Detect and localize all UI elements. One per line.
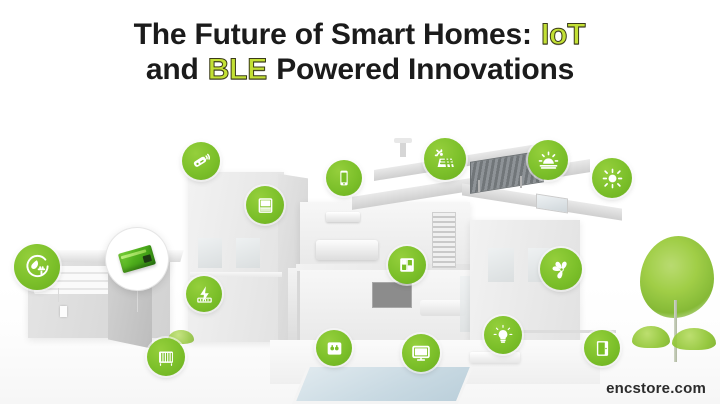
ble-module-badge[interactable] xyxy=(106,228,168,290)
power-socket-glyph xyxy=(324,338,345,359)
roof-skylight xyxy=(536,193,568,213)
house-left-window-a xyxy=(198,238,222,268)
light-switch-icon[interactable] xyxy=(388,246,426,284)
chimney-vent xyxy=(400,143,406,157)
light-switch-glyph xyxy=(396,254,418,276)
television-icon[interactable] xyxy=(402,334,440,372)
radiator-icon[interactable] xyxy=(147,338,185,376)
energy-meter-glyph xyxy=(194,284,215,305)
wall-tv-panel xyxy=(372,282,412,308)
swimming-pool xyxy=(292,364,474,404)
window-blind-icon[interactable] xyxy=(246,186,284,224)
page-title: The Future of Smart Homes: IoT and BLE P… xyxy=(0,18,720,88)
door-icon[interactable] xyxy=(584,330,620,366)
power-socket-icon[interactable] xyxy=(316,330,352,366)
ble-module-board xyxy=(118,245,156,274)
light-bulb-glyph xyxy=(492,324,514,346)
smartphone-glyph xyxy=(334,168,354,188)
television-glyph xyxy=(410,342,432,364)
sunrise-icon[interactable] xyxy=(528,140,568,180)
leader-ble-module xyxy=(137,290,138,312)
roof-weather-station xyxy=(394,138,412,143)
towel-radiator xyxy=(432,212,456,268)
bed-furniture xyxy=(316,240,378,260)
remote-control-glyph xyxy=(190,150,212,172)
energy-plug-icon[interactable] xyxy=(14,244,60,290)
sunrise-glyph xyxy=(537,149,560,172)
fan-icon[interactable] xyxy=(540,248,582,290)
solar-mount-b xyxy=(520,176,522,188)
window-blind-glyph xyxy=(255,195,276,216)
site-watermark: encstore.com xyxy=(606,380,706,397)
infographic-canvas: The Future of Smart Homes: IoT and BLE P… xyxy=(0,0,720,404)
title-line-2-suffix: Powered Innovations xyxy=(268,53,574,86)
door-glyph xyxy=(592,338,613,359)
right-wing-window xyxy=(488,248,514,282)
solar-panel-glyph xyxy=(433,147,457,171)
garage-wall-switch xyxy=(60,306,67,317)
tree-trunk xyxy=(674,300,677,362)
energy-plug-glyph xyxy=(24,254,51,281)
light-bulb-icon[interactable] xyxy=(484,316,522,354)
title-highlight-iot: IoT xyxy=(540,18,586,51)
energy-meter-icon[interactable] xyxy=(186,276,222,312)
title-highlight-ble: BLE xyxy=(207,53,268,86)
radiator-glyph xyxy=(155,346,177,368)
title-line-1-text: The Future of Smart Homes: xyxy=(134,18,540,51)
sun-icon[interactable] xyxy=(592,158,632,198)
smartphone-icon[interactable] xyxy=(326,160,362,196)
interior-partition xyxy=(288,268,297,342)
title-line-2-prefix: and xyxy=(146,53,207,86)
solar-mount-a xyxy=(478,180,480,192)
house-left-window-b xyxy=(236,238,260,268)
wall-ac-unit xyxy=(326,212,360,222)
title-line-2: and BLE Powered Innovations xyxy=(0,53,720,88)
solar-panel-icon[interactable] xyxy=(424,138,466,180)
sun-glyph xyxy=(601,167,624,190)
title-line-1: The Future of Smart Homes: IoT xyxy=(0,18,720,53)
remote-control-icon[interactable] xyxy=(182,142,220,180)
leader-energy-plug xyxy=(58,288,59,302)
poolside-lounger xyxy=(470,352,520,363)
fan-glyph xyxy=(549,257,574,282)
